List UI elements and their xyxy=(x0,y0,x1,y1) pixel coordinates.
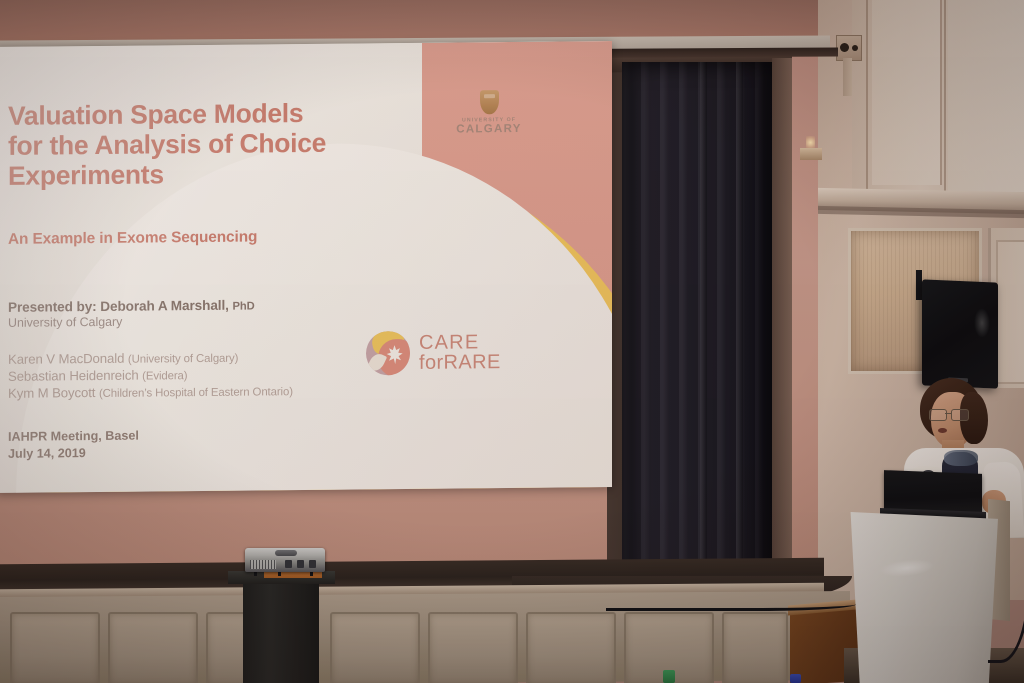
coauthor-list: Karen V MacDonald (University of Calgary… xyxy=(8,348,408,403)
wall-seam xyxy=(866,0,868,190)
stage-front-panel xyxy=(10,612,100,683)
calgary-shield-icon xyxy=(480,90,499,114)
projector-port xyxy=(297,560,304,568)
stage-front-panel xyxy=(428,612,518,683)
curtain-fold xyxy=(700,62,707,594)
alcove-right-edge xyxy=(772,58,792,598)
coauthor-affiliation: (University of Calgary) xyxy=(128,353,238,366)
presented-by-degree: PhD xyxy=(233,300,255,312)
stage-front-panel xyxy=(526,612,616,683)
care-wordmark-line1: CARE xyxy=(419,332,501,353)
slide-title-line-1: Valuation Space Models xyxy=(8,97,368,131)
coauthor-name: Karen V MacDonald xyxy=(8,351,124,367)
projection-screen: UNIVERSITY OF CALGARY Valuation Space Mo… xyxy=(0,41,612,493)
wall-panel-lower-right-inner xyxy=(996,240,1024,384)
list-item: Kym M Boycott (Children’s Hospital of Ea… xyxy=(8,382,408,403)
presentation-slide: UNIVERSITY OF CALGARY Valuation Space Mo… xyxy=(0,41,612,493)
slide-title-line-3: Experiments xyxy=(8,158,368,192)
projector-lens-dial xyxy=(275,550,297,556)
coauthor-affiliation: (Evidera) xyxy=(142,370,187,382)
projector-vent xyxy=(250,560,276,569)
projector-port xyxy=(309,560,316,568)
presenter-mouth xyxy=(938,428,947,433)
care-for-rare-mark-icon xyxy=(366,331,410,375)
dark-curtain xyxy=(622,62,772,594)
blue-object xyxy=(790,674,801,683)
care-for-rare-logo: CARE forRARE xyxy=(366,330,501,375)
slide-subtitle: An Example in Exome Sequencing xyxy=(8,227,388,249)
outlet-hole-small xyxy=(852,45,858,51)
slide-title-line-2: for the Analysis of Choice xyxy=(8,128,368,162)
floor-cable xyxy=(606,594,856,611)
slide-title: Valuation Space Models for the Analysis … xyxy=(8,97,368,191)
presented-by-text: Presented by: Deborah A Marshall, xyxy=(8,298,229,315)
green-object xyxy=(663,670,675,683)
wall-speaker xyxy=(922,279,998,388)
presenter-scarf xyxy=(944,450,978,466)
stage-front-panel xyxy=(330,612,420,683)
power-cable xyxy=(988,540,1024,663)
university-of-calgary-logo: UNIVERSITY OF CALGARY xyxy=(456,90,522,136)
wall-light-fixture xyxy=(800,148,822,160)
outlet-hole-large xyxy=(840,43,849,52)
presentation-photo-scene: UNIVERSITY OF CALGARY Valuation Space Mo… xyxy=(0,0,1024,683)
projector xyxy=(245,548,325,572)
care-for-rare-wordmark: CARE forRARE xyxy=(419,332,501,374)
coauthor-name: Kym M Boycott xyxy=(8,385,95,401)
lectern xyxy=(846,512,998,683)
care-wordmark-line2: forRARE xyxy=(419,352,501,373)
calgary-logo-line2: CALGARY xyxy=(456,123,522,136)
presenter-affiliation: University of Calgary xyxy=(8,315,122,330)
eyeglasses-icon xyxy=(929,409,973,419)
outlet-conduit xyxy=(843,58,852,96)
wall-panel-upper-right xyxy=(948,0,1024,192)
projector-port xyxy=(285,560,292,568)
speaker-glare xyxy=(974,308,990,339)
eyeglasses-lens-right xyxy=(951,409,969,421)
slide-content: UNIVERSITY OF CALGARY Valuation Space Mo… xyxy=(0,41,612,493)
coauthor-name: Sebastian Heidenreich xyxy=(8,367,139,383)
stage-front-panel xyxy=(722,612,788,683)
eyeglasses-lens-left xyxy=(929,409,947,421)
projector-pedestal xyxy=(243,581,319,683)
meeting-date: July 14, 2019 xyxy=(8,445,139,463)
presented-by-line: Presented by: Deborah A Marshall, PhD xyxy=(8,296,388,315)
coauthor-affiliation: (Children’s Hospital of Eastern Ontario) xyxy=(99,386,293,400)
meeting-name: IAHPR Meeting, Basel xyxy=(8,428,139,446)
meeting-info: IAHPR Meeting, Basel July 14, 2019 xyxy=(8,428,139,463)
wall-panel-upper-left xyxy=(872,0,942,185)
stage-front-panel xyxy=(108,612,198,683)
curtain-fold xyxy=(736,62,743,594)
wall-seam xyxy=(944,0,946,195)
